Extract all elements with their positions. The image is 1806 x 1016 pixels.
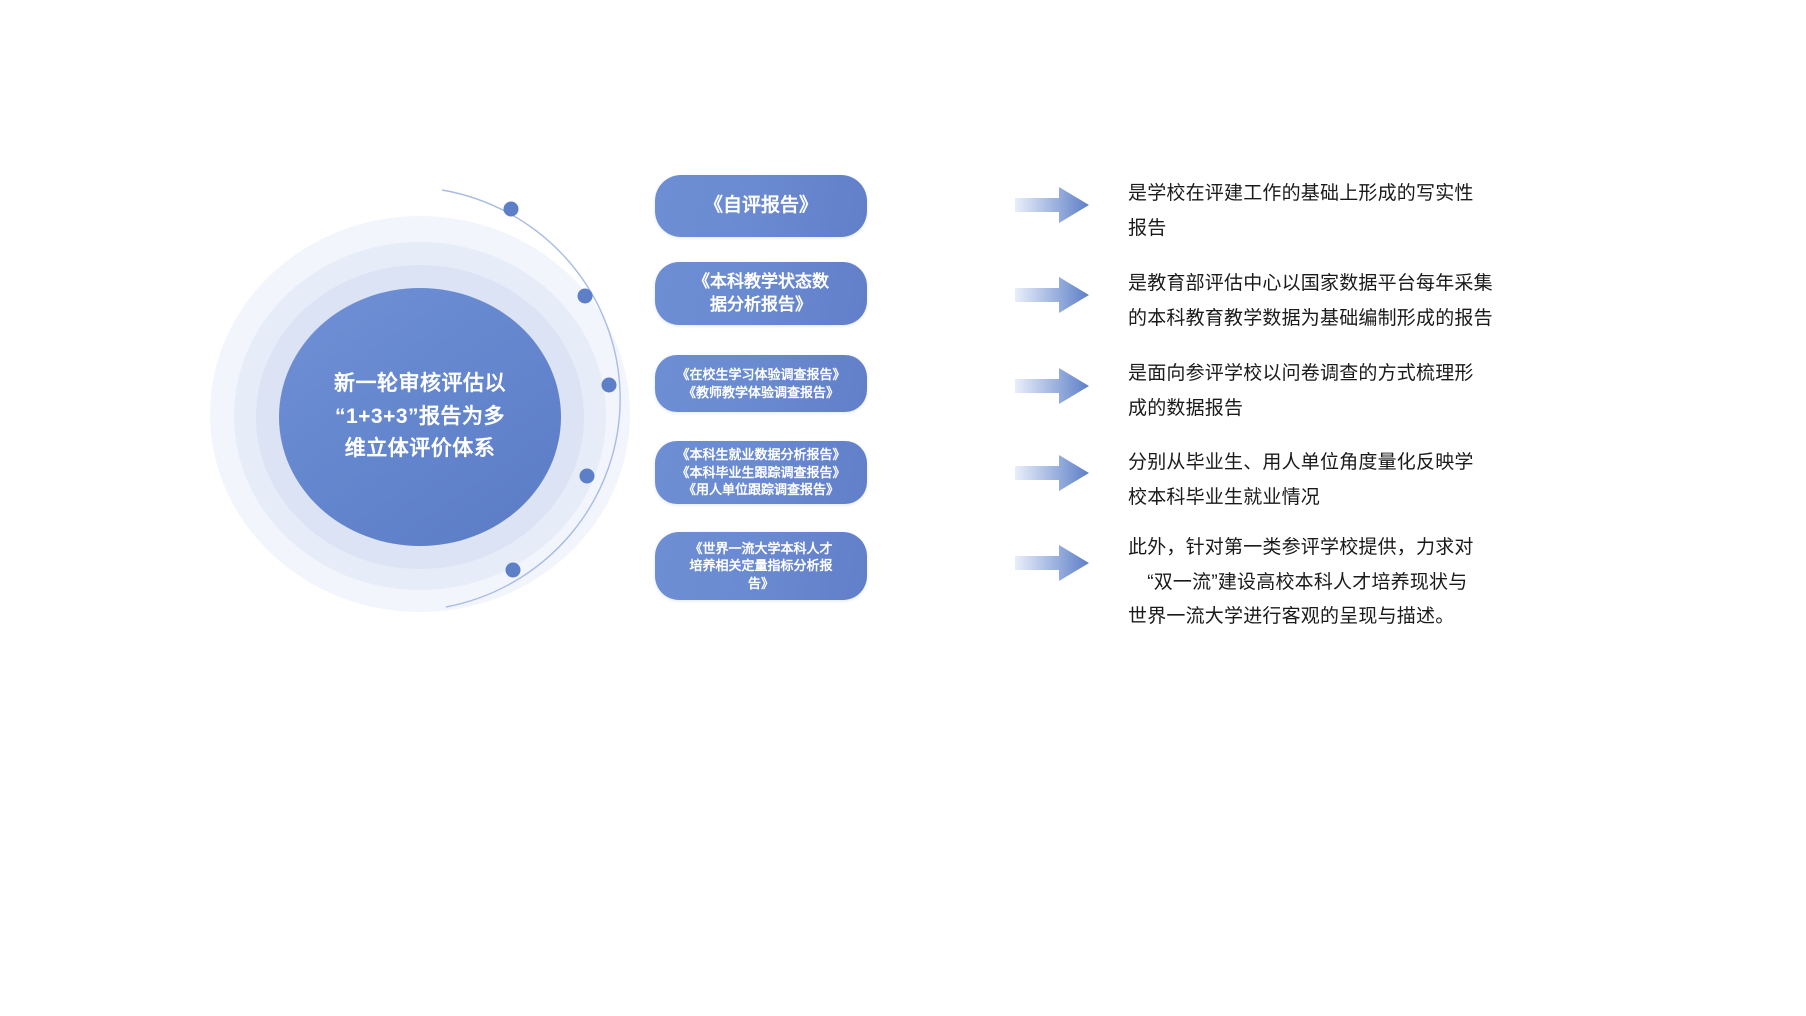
orbit-dot-2	[578, 289, 593, 304]
concentric-circle-graphic: 新一轮审核评估以 “1+3+3”报告为多 维立体评价体系	[196, 170, 696, 630]
description-self-assessment: 是学校在评建工作的基础上形成的写实性 报告	[1128, 177, 1558, 246]
badge-world-class-university-report[interactable]: 《世界一流大学本科人才 培养相关定量指标分析报 告》	[655, 532, 867, 600]
orbit-dot-5	[506, 563, 521, 578]
orbit-dot-4	[580, 469, 595, 484]
badge-employment-tracking-reports[interactable]: 《本科生就业数据分析报告》 《本科毕业生跟踪调查报告》 《用人单位跟踪调查报告》	[655, 441, 867, 504]
report-badge-column: 《自评报告》 《本科教学状态数 据分析报告》 《在校生学习体验调查报告》 《教师…	[655, 175, 867, 605]
badge-self-assessment-report[interactable]: 《自评报告》	[655, 175, 867, 237]
description-world-class-university: 此外，针对第一类参评学校提供，力求对 “双一流”建设高校本科人才培养现状与 世界…	[1128, 531, 1558, 635]
arrow-right-icon-4	[1015, 453, 1090, 493]
badge-experience-survey-reports[interactable]: 《在校生学习体验调查报告》 《教师教学体验调查报告》	[655, 355, 867, 412]
orbit-arc-path	[442, 190, 620, 607]
badge-teaching-status-data-report[interactable]: 《本科教学状态数 据分析报告》	[655, 262, 867, 325]
arrow-right-icon-3	[1015, 366, 1090, 406]
orbit-dot-1	[504, 202, 519, 217]
arrow-right-icon-2	[1015, 275, 1090, 315]
orbit-dot-group	[504, 202, 617, 578]
orbit-dot-3	[602, 378, 617, 393]
slide-canvas: 新一轮审核评估以 “1+3+3”报告为多 维立体评价体系 《自评报告》 《本科教…	[0, 0, 1806, 1016]
description-teaching-status-data: 是教育部评估中心以国家数据平台每年采集 的本科教育教学数据为基础编制形成的报告	[1128, 267, 1558, 336]
orbit-arc-overlay	[196, 170, 696, 630]
arrow-right-icon-5	[1015, 543, 1090, 583]
description-employment-tracking: 分别从毕业生、用人单位角度量化反映学 校本科毕业生就业情况	[1128, 446, 1558, 515]
arrow-right-icon-1	[1015, 185, 1090, 225]
description-experience-survey: 是面向参评学校以问卷调查的方式梳理形 成的数据报告	[1128, 357, 1558, 426]
